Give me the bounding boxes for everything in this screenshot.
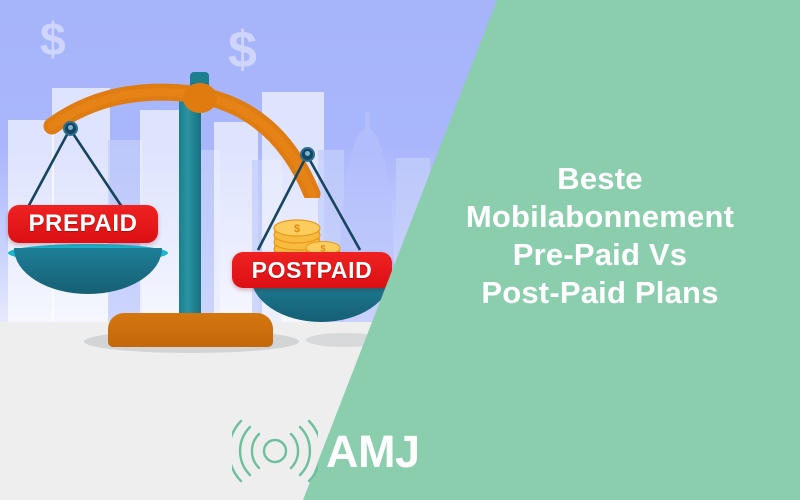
left-pan-bowl	[14, 248, 162, 294]
prepaid-badge: PREPAID	[8, 205, 158, 243]
page-title: Beste Mobilabonnement Pre-Paid Vs Post-P…	[400, 160, 800, 312]
prepaid-label: PREPAID	[28, 210, 137, 238]
svg-text:$: $	[294, 223, 300, 235]
right-hanger-knob	[300, 147, 315, 162]
title-line-1: Beste	[400, 160, 800, 198]
logo-text: AMJ	[326, 429, 420, 474]
title-line-3: Pre-Paid Vs	[400, 236, 800, 274]
signal-waves-icon	[232, 418, 318, 484]
title-line-2: Mobilabonnement	[400, 198, 800, 236]
banner: $ $ PREPAID	[0, 0, 800, 500]
postpaid-label: POSTPAID	[252, 257, 373, 284]
title-line-4: Post-Paid Plans	[400, 274, 800, 312]
postpaid-badge: POSTPAID	[232, 252, 392, 288]
left-pan	[8, 244, 168, 300]
left-hanger-knob	[63, 121, 78, 136]
amj-logo[interactable]: AMJ	[232, 418, 420, 484]
